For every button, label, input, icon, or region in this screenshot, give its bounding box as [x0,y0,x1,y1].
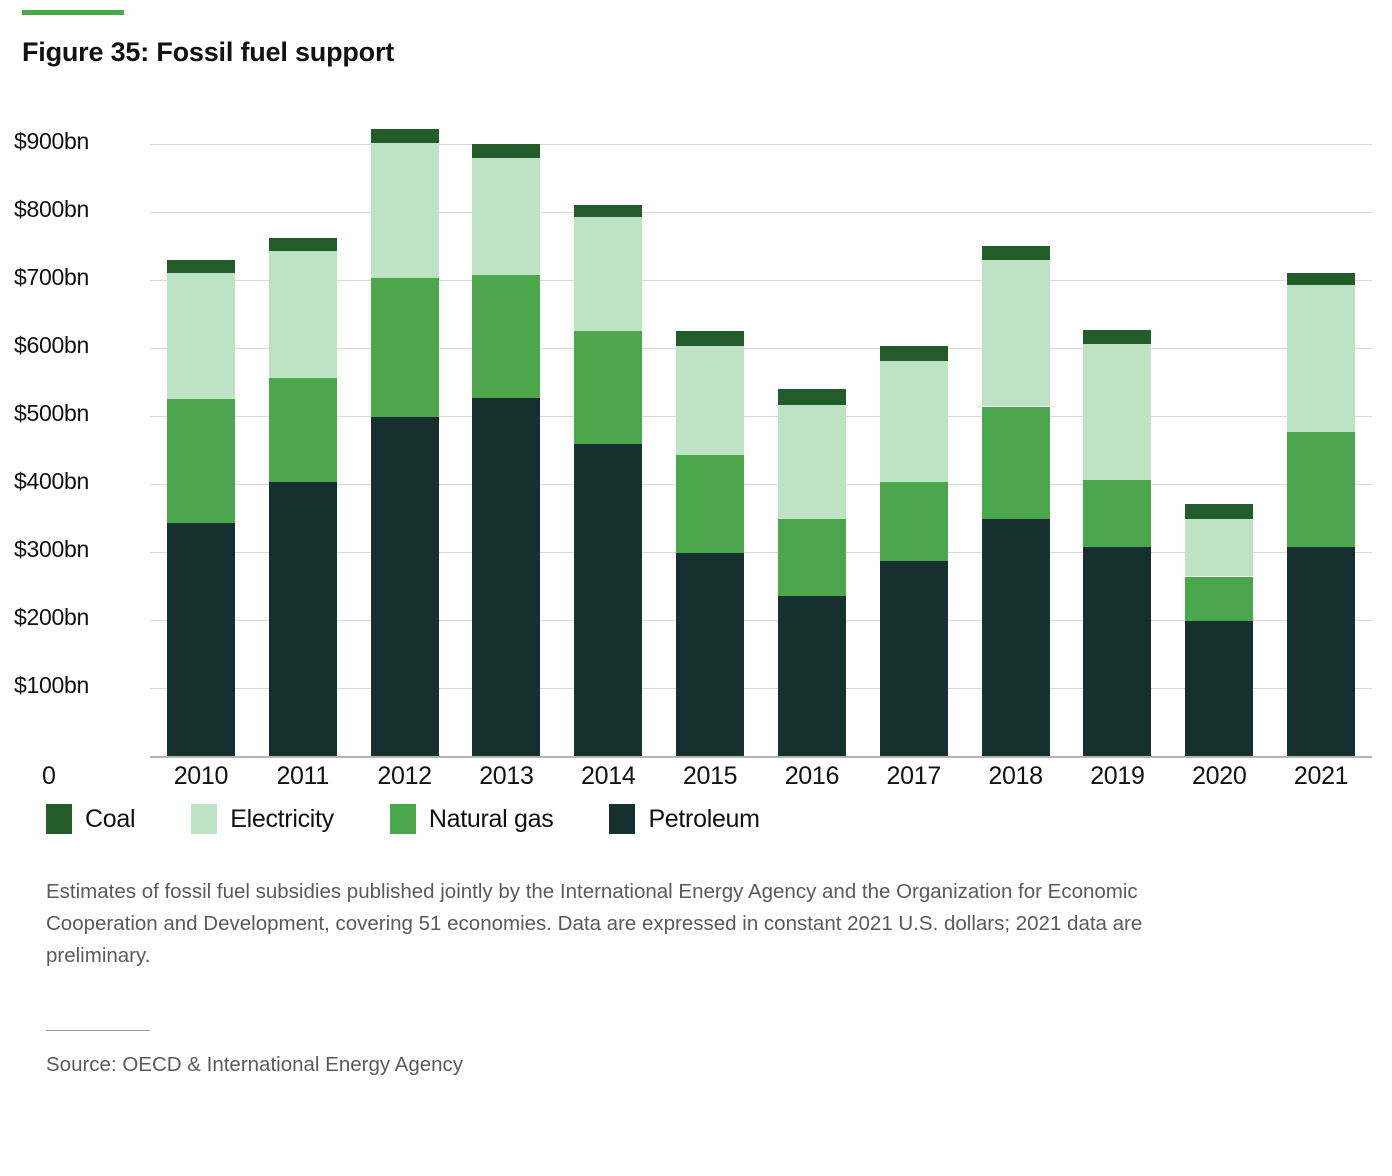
y-axis-tick-label: $500bn [14,400,134,427]
bar-segment-electricity [676,346,744,455]
bar-segment-petroleum [269,482,337,756]
x-axis-label-2017: 2017 [863,762,965,791]
bar-segment-petroleum [880,561,948,756]
bar-segment-electricity [880,361,948,482]
legend-label: Petroleum [648,805,759,834]
source-line: Source: OECD & International Energy Agen… [46,1053,1372,1077]
bar-segment-natural-gas [880,482,948,561]
y-axis-tick-label: $100bn [14,672,134,699]
x-axis-label-2020: 2020 [1168,762,1270,791]
bar-segment-petroleum [1185,621,1253,756]
x-axis-labels: 2010201120122013201420152016201720182019… [150,762,1372,802]
legend-item-petroleum: Petroleum [609,804,759,834]
y-axis-zero-label: 0 [42,762,56,791]
bar-segment-electricity [371,143,439,278]
bar-2014 [574,205,642,756]
bar-segment-natural-gas [1083,480,1151,547]
legend-swatch-coal [46,804,72,834]
legend-label: Electricity [230,805,334,834]
bar-segment-coal [1083,330,1151,344]
figure-page: Figure 35: Fossil fuel support $100bn$20… [0,10,1392,1077]
x-axis-label-2021: 2021 [1270,762,1372,791]
x-axis-label-2010: 2010 [150,762,252,791]
bar-segment-coal [167,260,235,273]
x-axis-label-2015: 2015 [659,762,761,791]
bar-segment-petroleum [778,596,846,756]
bar-segment-petroleum [1287,547,1355,756]
bar-segment-electricity [778,405,846,519]
y-axis-tick-label: $800bn [14,196,134,223]
source-divider [46,1030,150,1031]
x-axis-label-2016: 2016 [761,762,863,791]
bar-segment-coal [982,246,1050,260]
y-axis-tick-label: $900bn [14,128,134,155]
bar-segment-petroleum [167,523,235,756]
bar-2011 [269,238,337,756]
bar-segment-natural-gas [1287,432,1355,548]
bar-segment-electricity [1083,344,1151,480]
bar-2021 [1287,273,1355,756]
bar-segment-petroleum [1083,547,1151,756]
bar-segment-natural-gas [167,399,235,523]
x-axis-label-2011: 2011 [252,762,354,791]
bar-segment-electricity [269,251,337,378]
legend-item-natural-gas: Natural gas [390,804,554,834]
bar-segment-coal [1287,273,1355,286]
bar-segment-natural-gas [982,407,1050,519]
bar-2018 [982,246,1050,756]
legend-swatch-natural-gas [390,804,416,834]
chart-container: $100bn$200bn$300bn$400bn$500bn$600bn$700… [20,116,1372,776]
legend-item-coal: Coal [46,804,135,834]
x-axis-label-2012: 2012 [354,762,456,791]
y-axis-tick-label: $200bn [14,604,134,631]
x-axis-line [150,756,1372,758]
bar-segment-natural-gas [371,278,439,417]
x-axis-label-2014: 2014 [557,762,659,791]
legend-label: Natural gas [429,805,554,834]
bar-segment-petroleum [574,444,642,756]
bar-segment-electricity [167,273,235,399]
bar-segment-coal [676,331,744,346]
y-axis-tick-label: $400bn [14,468,134,495]
bar-segment-petroleum [472,398,540,756]
x-axis-label-2018: 2018 [965,762,1067,791]
bar-2017 [880,346,948,756]
accent-rule [22,10,124,15]
bar-segment-coal [269,238,337,251]
page-title: Figure 35: Fossil fuel support [22,37,1372,68]
bar-segment-coal [1185,504,1253,519]
bar-segment-electricity [1287,285,1355,431]
bar-segment-electricity [472,158,540,276]
bar-segment-petroleum [982,519,1050,756]
bar-segment-natural-gas [1185,577,1253,622]
bar-2016 [778,389,846,756]
bar-2012 [371,129,439,756]
bar-segment-electricity [1185,519,1253,576]
bar-2010 [167,260,235,756]
bar-segment-coal [371,129,439,143]
bar-2015 [676,331,744,756]
bar-segment-coal [880,346,948,361]
chart-legend: CoalElectricityNatural gasPetroleum [46,804,1372,834]
y-axis-tick-label: $700bn [14,264,134,291]
chart-plot-area [150,116,1372,756]
x-axis-label-2013: 2013 [456,762,558,791]
bar-2019 [1083,330,1151,756]
bar-segment-coal [472,144,540,158]
bar-segment-coal [778,389,846,405]
bar-2020 [1185,504,1253,756]
bar-segment-natural-gas [472,275,540,397]
bar-segment-natural-gas [778,519,846,596]
bar-segment-coal [574,205,642,217]
bar-2013 [472,144,540,756]
bar-segment-petroleum [371,417,439,756]
bar-segment-natural-gas [574,331,642,444]
legend-swatch-electricity [191,804,217,834]
bar-segment-natural-gas [269,378,337,482]
bar-series-group [150,116,1372,756]
y-axis-tick-label: $600bn [14,332,134,359]
legend-swatch-petroleum [609,804,635,834]
bar-segment-natural-gas [676,455,744,554]
bar-segment-electricity [982,260,1050,406]
bar-segment-petroleum [676,553,744,756]
bar-segment-electricity [574,217,642,331]
figure-note: Estimates of fossil fuel subsidies publi… [46,876,1176,972]
y-axis-tick-label: $300bn [14,536,134,563]
legend-label: Coal [85,805,135,834]
x-axis-label-2019: 2019 [1067,762,1169,791]
legend-item-electricity: Electricity [191,804,334,834]
